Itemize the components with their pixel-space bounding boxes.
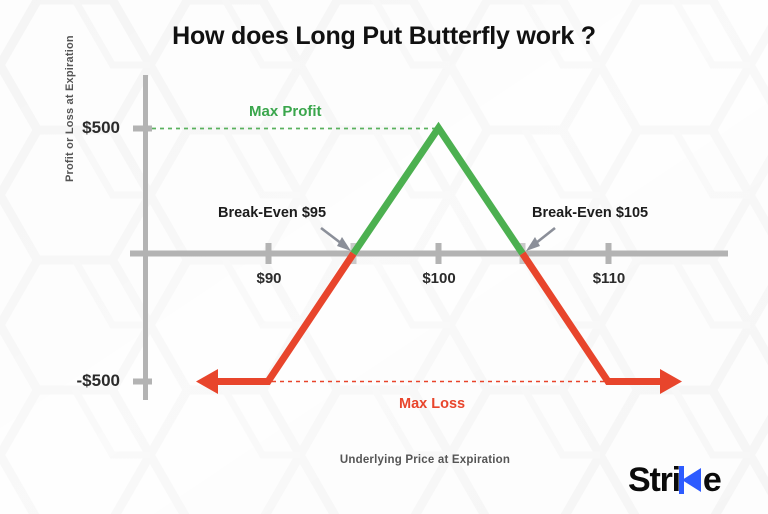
x-tick-label-110: $110: [576, 270, 642, 287]
annotation-break-even-low: Break-Even $95: [218, 205, 326, 221]
x-axis-title: Underlying Price at Expiration: [240, 454, 610, 466]
payoff-right-arrowhead: [660, 369, 682, 394]
break-even-high-arrow-icon: [526, 228, 555, 251]
break-even-low-arrow-icon: [321, 228, 351, 251]
infographic-canvas: How does Long Put Butterfly work ?: [0, 0, 768, 514]
y-axis-title: Profit or Loss at Expiration: [64, 0, 76, 182]
payoff-profit-tent: [354, 128, 523, 254]
blue-arrow-k-icon: [678, 463, 704, 497]
y-tick-label-minus-500: -$500: [42, 371, 120, 391]
annotation-max-loss: Max Loss: [399, 396, 465, 412]
annotation-break-even-high: Break-Even $105: [532, 205, 648, 221]
brand-logo: Stri e: [628, 459, 721, 501]
annotation-max-profit: Max Profit: [249, 103, 322, 120]
payoff-left-arrowhead: [196, 369, 218, 394]
payoff-chart: [0, 0, 768, 514]
brand-name-prefix: Stri: [628, 461, 680, 500]
y-tick-label-500: $500: [50, 118, 120, 138]
x-tick-label-90: $90: [238, 270, 300, 287]
x-tick-label-100: $100: [404, 270, 474, 287]
brand-name-suffix: e: [703, 461, 721, 500]
